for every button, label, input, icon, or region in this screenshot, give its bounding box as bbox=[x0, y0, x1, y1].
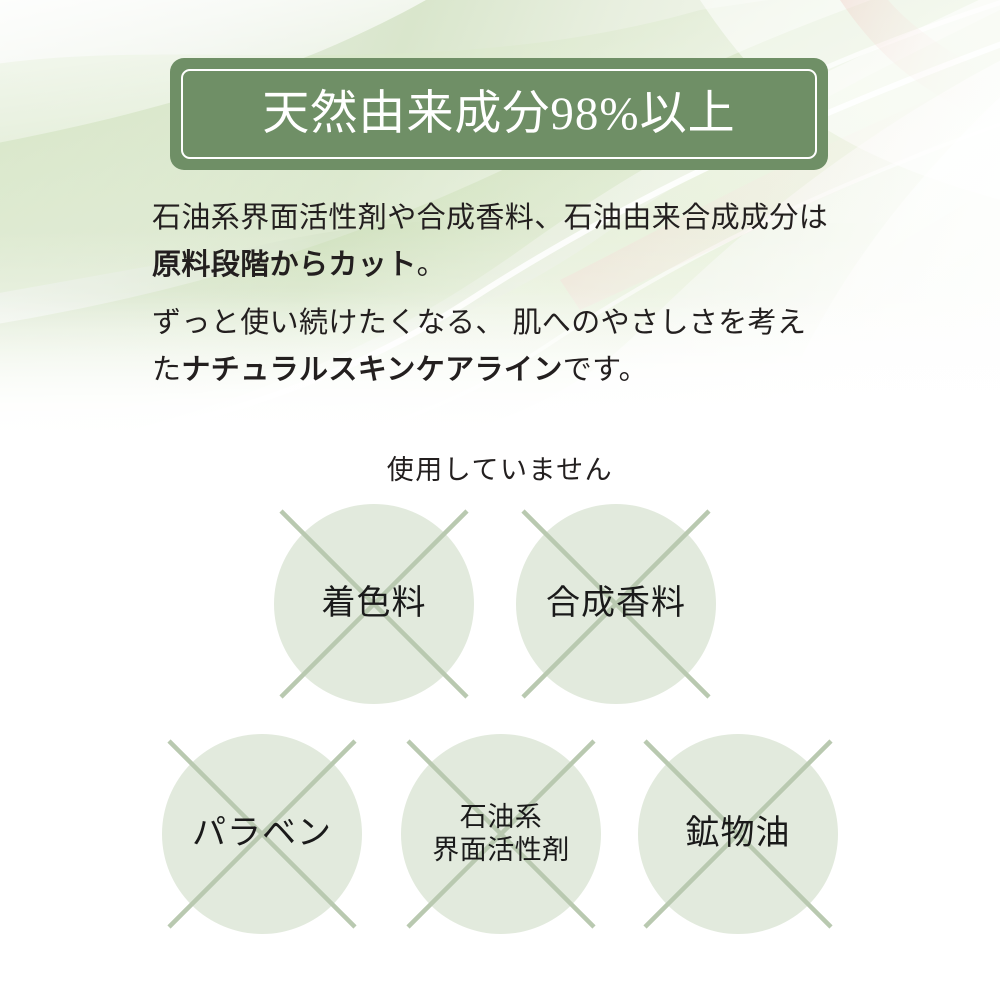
paragraph-1-line-1: 石油系界面活性剤や合成香料、石油由来合成成分は bbox=[152, 195, 892, 242]
free-of-item-paraben: パラベン bbox=[155, 727, 369, 941]
circle-label-line: 合成香料 bbox=[546, 584, 686, 624]
headline-banner-inner-border: 天然由来成分98%以上 bbox=[181, 69, 817, 159]
free-of-heading: 使用していません bbox=[0, 448, 1000, 487]
paragraph-2-line-1: ずっと使い続けたくなる、 肌へのやさしさを考え bbox=[152, 300, 892, 347]
circle-label: 石油系 界面活性剤 bbox=[394, 727, 608, 941]
free-of-item-colorant: 着色料 bbox=[267, 497, 481, 711]
circle-label-line: 石油系 bbox=[460, 801, 543, 834]
circle-label-line: 界面活性剤 bbox=[432, 834, 570, 867]
paragraph-1-line-2: 原料段階からカット。 bbox=[152, 242, 892, 289]
circle-label-line: 鉱物油 bbox=[686, 814, 791, 854]
body-paragraph-2: ずっと使い続けたくなる、 肌へのやさしさを考え たナチュラルスキンケアラインです… bbox=[152, 300, 892, 394]
free-of-item-synthetic-fragrance: 合成香料 bbox=[509, 497, 723, 711]
free-of-item-mineral-oil: 鉱物油 bbox=[631, 727, 845, 941]
paragraph-2-line-2: たナチュラルスキンケアラインです。 bbox=[152, 347, 892, 394]
free-of-item-petroleum-surfactant: 石油系 界面活性剤 bbox=[394, 727, 608, 941]
circle-label: パラベン bbox=[155, 727, 369, 941]
paragraph-1-emphasis: 原料段階からカット bbox=[152, 249, 417, 281]
body-paragraph-1: 石油系界面活性剤や合成香料、石油由来合成成分は 原料段階からカット。 bbox=[152, 195, 892, 289]
circle-label: 合成香料 bbox=[509, 497, 723, 711]
promo-page: 天然由来成分98%以上 石油系界面活性剤や合成香料、石油由来合成成分は 原料段階… bbox=[0, 0, 1000, 1000]
paragraph-1-line-2-tail: 。 bbox=[417, 249, 446, 281]
headline-banner-text: 天然由来成分98%以上 bbox=[262, 91, 735, 138]
paragraph-2-line-2-head: た bbox=[152, 354, 181, 386]
free-of-circle-grid: 着色料 合成香料 bbox=[0, 495, 1000, 955]
paragraph-2-line-2-tail: です。 bbox=[563, 354, 648, 386]
circle-label-line: 着色料 bbox=[322, 584, 427, 624]
headline-banner: 天然由来成分98%以上 bbox=[170, 58, 828, 170]
circle-label-line: パラベン bbox=[192, 814, 332, 854]
circle-label: 鉱物油 bbox=[631, 727, 845, 941]
paragraph-2-emphasis: ナチュラルスキンケアライン bbox=[181, 354, 562, 386]
circle-label: 着色料 bbox=[267, 497, 481, 711]
